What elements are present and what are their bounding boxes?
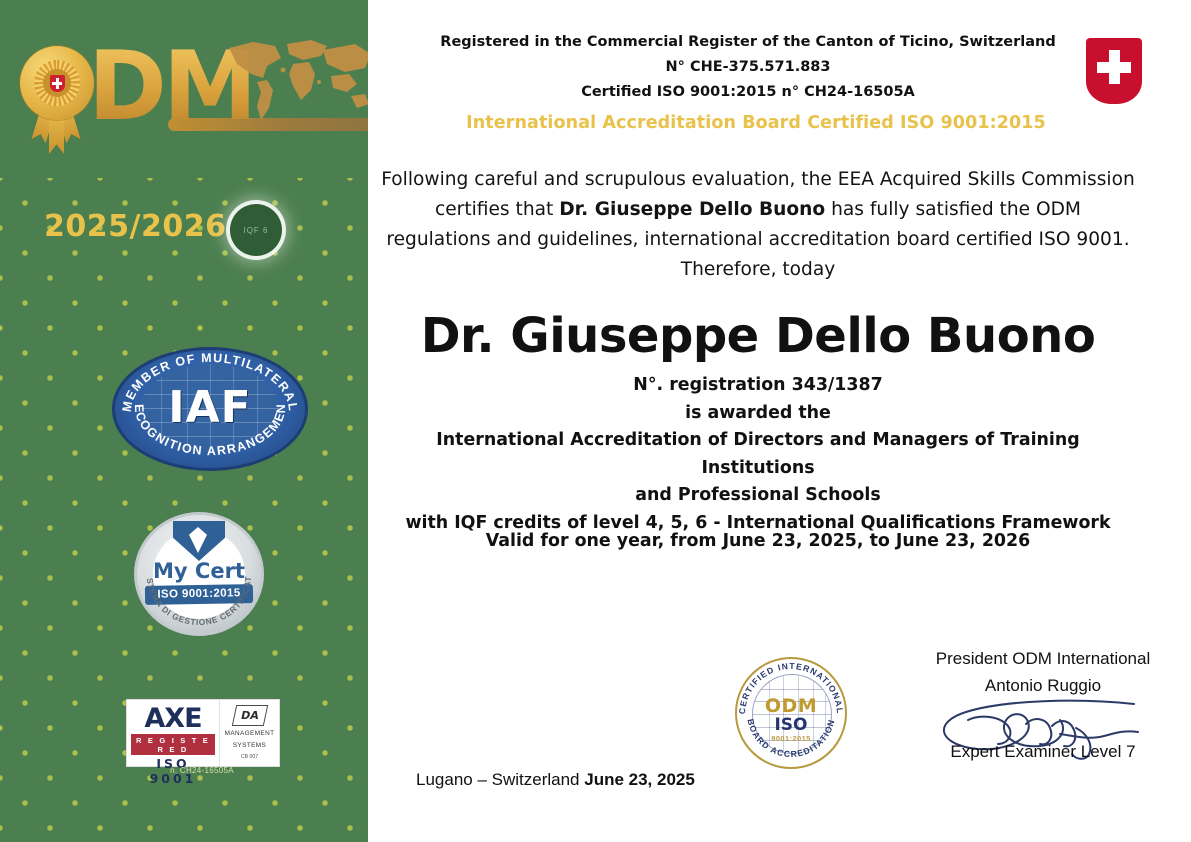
gold-banner: International Accreditation Board Certif… [365,113,1147,133]
iaf-logo: MEMBER OF MULTILATERAL RECOGNITION ARRAN… [112,347,308,471]
award-title-line-1: International Accreditation of Directors… [378,427,1138,482]
iaf-acronym: IAF [115,386,305,430]
axe-certificate-number: n. CH24-16505A [126,766,278,775]
axe-management-label: MANAGEMENT [220,730,279,738]
swiss-shield-icon [1086,38,1142,104]
mycert-logo: My Cert ISO 9001:2015 SISTEMA DI GESTION… [134,512,264,636]
da-mark-icon: DA [231,705,267,726]
certificate: DM 2025/2026 IQF 6 [0,0,1191,842]
issue-date: June 23, 2025 [584,770,695,789]
award-title-line-2: and Professional Schools [378,482,1138,510]
intro-name-inline: Dr. Giuseppe Dello Buono [559,199,825,220]
axe-left: AXE R E G I S T E R E D ISO 9001 [127,700,219,766]
header-line-3: Certified ISO 9001:2015 n° CH24-16505A [368,80,1128,105]
axe-code-label: CB 007 [220,754,279,760]
left-decorative-panel: DM 2025/2026 IQF 6 [0,0,368,842]
rosette-ribbon-center [49,114,64,154]
intro-line-1: Following careful and scrupulous evaluat… [381,169,1134,190]
header-line-1: Registered in the Commercial Register of… [368,30,1128,55]
certificate-body: Registered in the Commercial Register of… [368,0,1191,842]
awarded-label: is awarded the [378,400,1138,428]
intro-line-3: regulations and guidelines, internationa… [386,229,1129,250]
svg-text:SISTEMA DI GESTIONE CERTIFICAT: SISTEMA DI GESTIONE CERTIFICATO [137,515,253,627]
recipient-name: Dr. Giuseppe Dello Buono [378,308,1138,364]
swiss-cross-icon [50,75,65,92]
examiner-role: Expert Examiner Level 7 [898,742,1188,762]
intro-line-2-pre: certifies that [435,199,559,220]
odm-logo: DM [8,22,368,142]
seal-iso-label: ISO [735,715,847,735]
axe-registered-logo: AXE R E G I S T E R E D ISO 9001 DA MANA… [126,699,280,767]
registration-header: Registered in the Commercial Register of… [368,30,1128,105]
rosette-core [43,69,71,97]
validity-line: Valid for one year, from June 23, 2025, … [378,531,1138,551]
world-map-icon [223,34,368,126]
rosette-icon [20,46,94,120]
year-label: 2025/2026 [44,209,226,244]
intro-line-2-post: has fully satisfied the ODM [825,199,1081,220]
axe-systems-label: SYSTEMS [220,742,279,750]
odm-iso-seal: CERTIFIED INTERNATIONAL BOARD ACCREDITAT… [735,657,847,769]
axe-wordmark: AXE [131,705,215,733]
registration-number: N°. registration 343/1387 [378,372,1138,400]
intro-line-4: Therefore, today [681,259,836,280]
place-and-date: Lugano – Switzerland June 23, 2025 [416,770,695,790]
place-label: Lugano – Switzerland [416,770,584,789]
intro-paragraph: Following careful and scrupulous evaluat… [378,165,1138,285]
mycert-arc-text: SISTEMA DI GESTIONE CERTIFICATO [137,515,261,633]
president-title: President ODM International [898,645,1188,672]
iqf-badge: IQF 6 [230,204,282,256]
header-line-2: N° CHE-375.571.883 [368,55,1128,80]
axe-registered-band: R E G I S T E R E D [131,734,215,755]
axe-right: DA MANAGEMENT SYSTEMS CB 007 [219,700,279,766]
seal-odm-label: ODM [735,695,847,717]
award-details: N°. registration 343/1387 is awarded the… [378,372,1138,537]
mycert-arc-label: SISTEMA DI GESTIONE CERTIFICATO [137,515,253,627]
seal-standard-number: 9001:2015 [735,734,847,743]
